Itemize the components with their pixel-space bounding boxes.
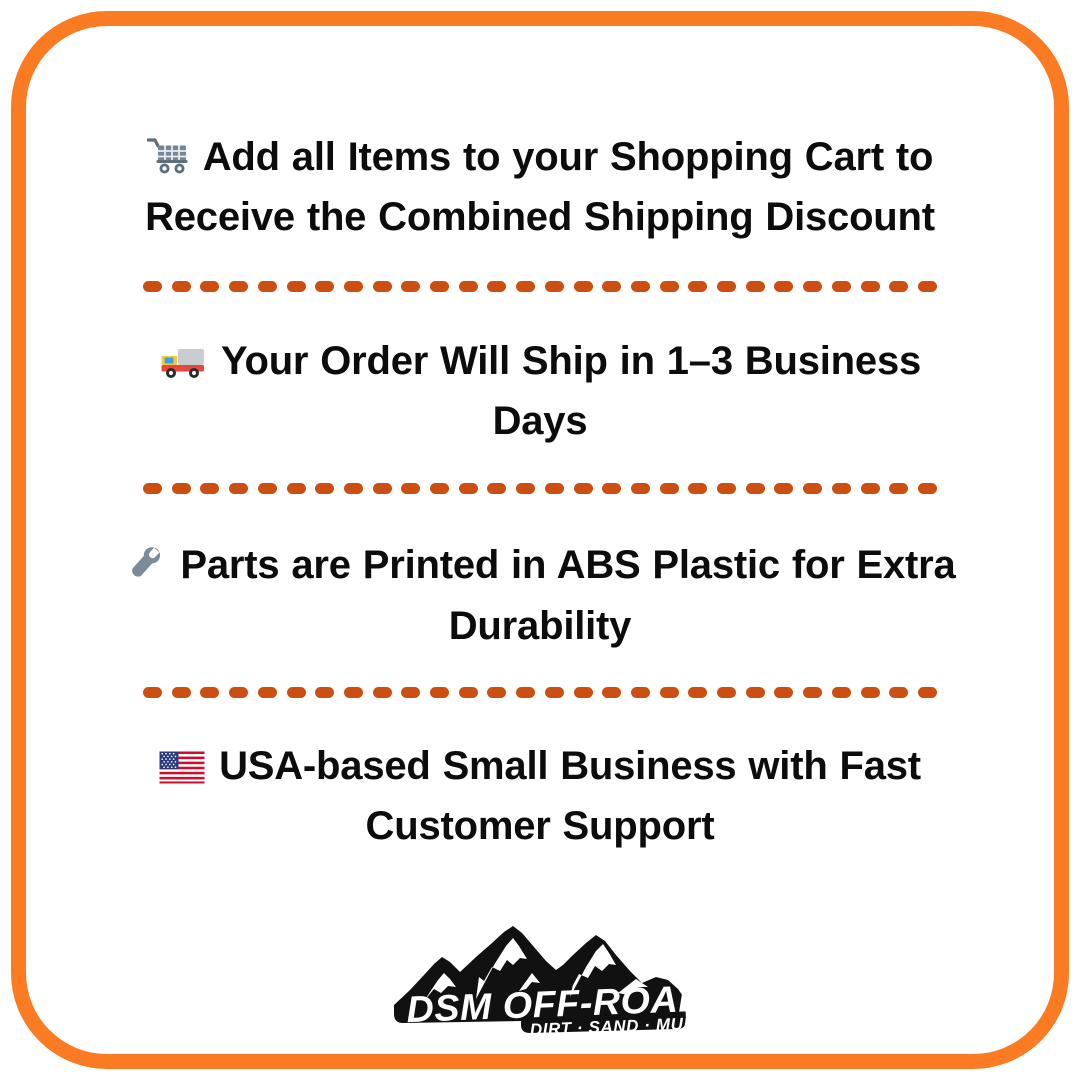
divider-dash — [602, 687, 621, 698]
divider-dash — [258, 687, 277, 698]
delivery-truck-icon — [159, 340, 207, 393]
divider-dash — [660, 281, 679, 292]
divider-dash — [602, 281, 621, 292]
wrench-icon — [124, 543, 166, 597]
divider-dash — [832, 281, 851, 292]
divider-3 — [143, 687, 937, 698]
divider-dash — [143, 281, 162, 292]
divider-dash — [602, 483, 621, 494]
divider-dash — [717, 687, 736, 698]
divider-dash — [200, 483, 219, 494]
divider-dash — [832, 687, 851, 698]
divider-dash — [459, 483, 478, 494]
feature-stack: Add all Items to your Shopping Cart to R… — [26, 26, 1054, 1054]
dsm-off-road-logo: DSM OFF-ROAD DIRT · SAND · MUD — [380, 917, 700, 1042]
usa-flag-icon — [159, 745, 205, 798]
divider-dash — [803, 687, 822, 698]
divider-dash — [688, 687, 707, 698]
feature-text: Parts are Printed in ABS Plastic for Ext… — [180, 543, 955, 647]
divider-dash — [688, 483, 707, 494]
divider-dash — [774, 687, 793, 698]
divider-dash — [487, 483, 506, 494]
divider-dash — [861, 483, 880, 494]
divider-dash — [373, 483, 392, 494]
feature-row-shopping-cart: Add all Items to your Shopping Cart to R… — [110, 129, 970, 244]
shopping-cart-icon — [147, 136, 189, 189]
divider-1 — [143, 281, 937, 292]
divider-dash — [373, 281, 392, 292]
feature-row-usa-business: USA-based Small Business with Fast Custo… — [110, 738, 970, 853]
divider-dash — [889, 281, 908, 292]
divider-dash — [717, 483, 736, 494]
divider-dash — [746, 483, 765, 494]
divider-dash — [803, 483, 822, 494]
divider-dash — [344, 687, 363, 698]
divider-dash — [717, 281, 736, 292]
divider-dash — [373, 687, 392, 698]
divider-dash — [746, 687, 765, 698]
divider-dash — [861, 687, 880, 698]
feature-text: Your Order Will Ship in 1–3 Business Day… — [221, 339, 921, 443]
divider-dash — [516, 281, 535, 292]
divider-dash — [861, 281, 880, 292]
divider-dash — [832, 483, 851, 494]
divider-dash — [918, 687, 937, 698]
promo-card: Add all Items to your Shopping Cart to R… — [11, 11, 1069, 1069]
feature-row-shipping-time: Your Order Will Ship in 1–3 Business Day… — [110, 333, 970, 448]
divider-dash — [258, 281, 277, 292]
divider-dash — [631, 687, 650, 698]
divider-dash — [143, 483, 162, 494]
divider-dash — [574, 281, 593, 292]
divider-dash — [229, 483, 248, 494]
divider-dash — [344, 281, 363, 292]
feature-text: USA-based Small Business with Fast Custo… — [219, 744, 921, 848]
divider-dash — [315, 483, 334, 494]
divider-dash — [660, 687, 679, 698]
divider-dash — [487, 281, 506, 292]
divider-dash — [287, 483, 306, 494]
divider-dash — [287, 281, 306, 292]
divider-dash — [516, 483, 535, 494]
divider-dash — [315, 281, 334, 292]
divider-dash — [918, 281, 937, 292]
divider-dash — [430, 483, 449, 494]
divider-dash — [172, 483, 191, 494]
divider-dash — [459, 687, 478, 698]
divider-dash — [401, 281, 420, 292]
divider-dash — [545, 281, 564, 292]
divider-dash — [688, 281, 707, 292]
divider-dash — [487, 687, 506, 698]
divider-dash — [459, 281, 478, 292]
divider-dash — [229, 687, 248, 698]
divider-dash — [889, 687, 908, 698]
divider-dash — [200, 687, 219, 698]
divider-dash — [172, 281, 191, 292]
divider-dash — [315, 687, 334, 698]
divider-dash — [545, 483, 564, 494]
divider-dash — [258, 483, 277, 494]
divider-dash — [918, 483, 937, 494]
divider-dash — [401, 687, 420, 698]
feature-row-abs-plastic: Parts are Printed in ABS Plastic for Ext… — [110, 537, 970, 652]
divider-2 — [143, 483, 937, 494]
divider-dash — [746, 281, 765, 292]
divider-dash — [344, 483, 363, 494]
divider-dash — [803, 281, 822, 292]
divider-dash — [516, 687, 535, 698]
feature-text: Add all Items to your Shopping Cart to R… — [145, 135, 935, 239]
divider-dash — [287, 687, 306, 698]
divider-dash — [430, 687, 449, 698]
divider-dash — [200, 281, 219, 292]
divider-dash — [545, 687, 564, 698]
divider-dash — [631, 483, 650, 494]
divider-dash — [660, 483, 679, 494]
divider-dash — [574, 483, 593, 494]
divider-dash — [430, 281, 449, 292]
divider-dash — [401, 483, 420, 494]
divider-dash — [143, 687, 162, 698]
divider-dash — [774, 483, 793, 494]
divider-dash — [574, 687, 593, 698]
divider-dash — [172, 687, 191, 698]
divider-dash — [889, 483, 908, 494]
divider-dash — [229, 281, 248, 292]
divider-dash — [631, 281, 650, 292]
divider-dash — [774, 281, 793, 292]
